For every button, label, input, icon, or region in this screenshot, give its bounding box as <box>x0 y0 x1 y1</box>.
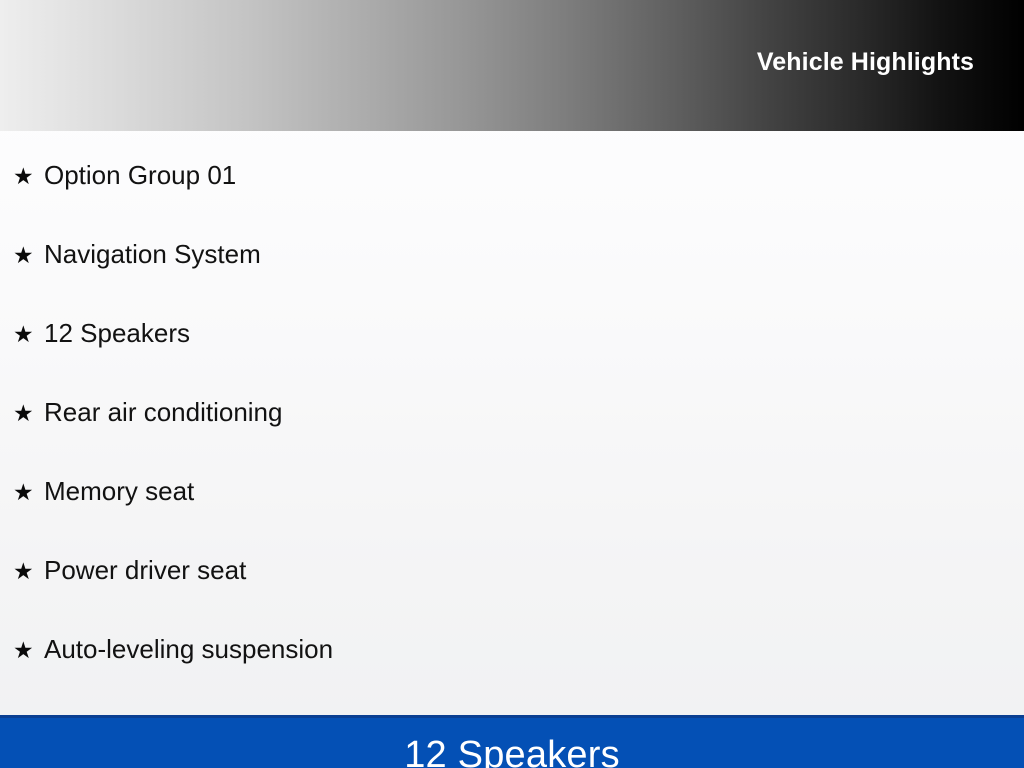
highlight-label: Power driver seat <box>44 557 246 583</box>
star-icon: ★ <box>13 639 44 662</box>
highlight-label: Navigation System <box>44 241 261 267</box>
slide-footer-banner: 12 Speakers <box>0 715 1024 768</box>
slide-header: Vehicle Highlights <box>0 0 1024 131</box>
star-icon: ★ <box>13 165 44 188</box>
list-item: ★ Rear air conditioning <box>0 399 1024 478</box>
list-item: ★ Option Group 01 <box>0 162 1024 241</box>
slide-body: ★ Option Group 01 ★ Navigation System ★ … <box>0 131 1024 715</box>
star-icon: ★ <box>13 560 44 583</box>
vehicle-highlights-slide: Vehicle Highlights ★ Option Group 01 ★ N… <box>0 0 1024 768</box>
star-icon: ★ <box>13 481 44 504</box>
highlight-label: Auto-leveling suspension <box>44 636 333 662</box>
highlight-label: Rear air conditioning <box>44 399 282 425</box>
footer-caption: 12 Speakers <box>404 736 620 768</box>
list-item: ★ Power driver seat <box>0 557 1024 636</box>
list-item: ★ Auto-leveling suspension <box>0 636 1024 715</box>
page-title: Vehicle Highlights <box>757 50 974 75</box>
list-item: ★ Memory seat <box>0 478 1024 557</box>
star-icon: ★ <box>13 244 44 267</box>
highlight-label: 12 Speakers <box>44 320 190 346</box>
star-icon: ★ <box>13 402 44 425</box>
list-item: ★ Navigation System <box>0 241 1024 320</box>
star-icon: ★ <box>13 323 44 346</box>
vehicle-highlights-list: ★ Option Group 01 ★ Navigation System ★ … <box>0 162 1024 715</box>
highlight-label: Option Group 01 <box>44 162 236 188</box>
highlight-label: Memory seat <box>44 478 194 504</box>
list-item: ★ 12 Speakers <box>0 320 1024 399</box>
